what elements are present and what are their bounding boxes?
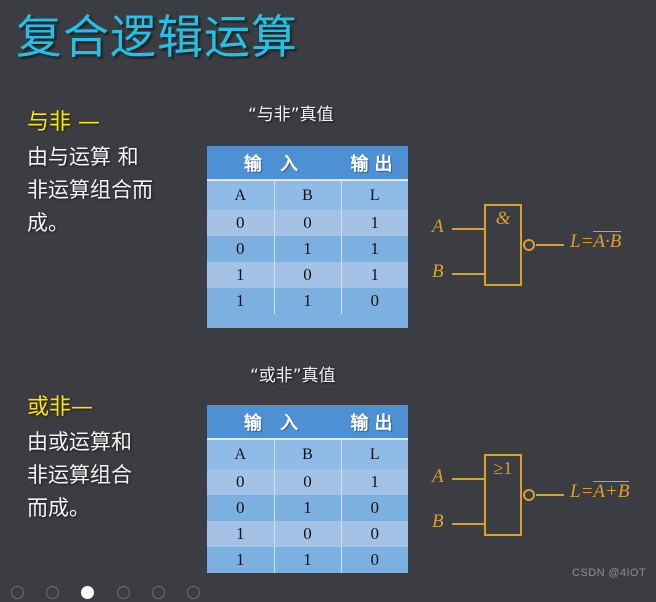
cell-a: 0 [207,495,274,521]
group-header-input: 输 入 [207,405,341,439]
inversion-bubble-icon [523,239,535,251]
cell-a: 1 [207,521,274,547]
table-row: 0 1 0 [207,495,408,521]
pagination-dot[interactable] [187,586,200,599]
group-header-output: 输出 [341,405,408,439]
inversion-bubble-icon [523,489,535,501]
gate-input-label-b: B [432,511,444,533]
desc-nand-line-1: 由与运算 和 [27,141,212,174]
table-row: 1 1 0 [207,547,408,573]
table-filler-cell [207,314,408,328]
gate-input-label-a: A [432,466,444,488]
column-label-a: A [207,439,274,469]
gate-operator-symbol: & [484,208,522,230]
table-row: 0 1 1 [207,236,408,262]
cell-a: 1 [207,547,274,573]
table-row: 0 0 1 [207,210,408,236]
cell-l: 1 [341,469,408,495]
desc-nand-line-3: 成。 [27,207,212,240]
cell-l: 1 [341,262,408,288]
cell-b: 1 [274,236,341,262]
keyword-nand: 与非 — [27,108,212,138]
desc-nor-line-1: 由或运算和 [27,426,212,459]
gate-diagram-nand: A B & L=A·B [424,196,656,296]
table-row: 1 0 1 [207,262,408,288]
cell-l: 1 [341,210,408,236]
cell-b: 1 [274,288,341,314]
table-subheader-row: A B L [207,180,408,210]
gate-formula-nand: L=A·B [570,231,621,253]
formula-prefix: L= [570,231,593,252]
desc-nor-line-3: 而成。 [27,492,212,525]
cell-l: 0 [341,521,408,547]
truth-table-nor: 输 入 输出 A B L 0 0 1 0 1 0 1 0 0 [207,405,408,573]
cell-b: 1 [274,547,341,573]
table-filler-row [207,314,408,328]
table-header-row: 输 入 输出 [207,146,408,180]
gate-input-wire-b [452,273,486,275]
pagination-dots[interactable] [0,582,211,602]
cell-a: 0 [207,469,274,495]
pagination-dot[interactable] [11,586,24,599]
cell-l: 0 [341,547,408,573]
gate-input-wire-b [452,523,486,525]
gate-output-wire [536,494,564,496]
pagination-dot-active[interactable] [81,586,94,599]
keyword-nor: 或非— [27,393,212,423]
cell-a: 0 [207,236,274,262]
watermark: CSDN @4IOT [572,567,646,579]
page-title: 复合逻辑运算 [16,6,298,68]
cell-b: 0 [274,262,341,288]
pagination-dot[interactable] [152,586,165,599]
gate-formula-nor: L=A+B [570,481,629,503]
formula-body-overlined: A+B [593,481,629,503]
gate-output-wire [536,244,564,246]
gate-diagram-nor: A B ≥1 L=A+B [424,446,656,546]
gate-input-label-a: A [432,216,444,238]
truth-table-nand: 输 入 输出 A B L 0 0 1 0 1 1 1 0 1 [207,146,408,328]
text-block-nor: 或非— 由或运算和 非运算组合 而成。 [27,393,212,525]
cell-b: 0 [274,521,341,547]
column-label-a: A [207,180,274,210]
table-header-row: 输 入 输出 [207,405,408,439]
gate-input-wire-a [452,478,486,480]
cell-a: 1 [207,288,274,314]
caption-nor-table: “或非”真值 [250,365,336,387]
text-block-nand: 与非 — 由与运算 和 非运算组合而 成。 [27,108,212,240]
cell-l: 0 [341,495,408,521]
cell-b: 1 [274,495,341,521]
table-row: 1 0 0 [207,521,408,547]
column-label-l: L [341,180,408,210]
cell-a: 0 [207,210,274,236]
slide-canvas: 复合逻辑运算 与非 — 由与运算 和 非运算组合而 成。 “与非”真值 输 入 … [0,0,656,593]
desc-nand-line-2: 非运算组合而 [27,174,212,207]
table-row: 1 1 0 [207,288,408,314]
pagination-dot[interactable] [46,586,59,599]
group-header-output: 输出 [341,146,408,180]
cell-l: 0 [341,288,408,314]
column-label-b: B [274,439,341,469]
formula-body-overlined: A·B [593,231,621,253]
gate-input-label-b: B [432,261,444,283]
cell-a: 1 [207,262,274,288]
caption-nand-table: “与非”真值 [248,104,334,126]
cell-b: 0 [274,469,341,495]
cell-b: 0 [274,210,341,236]
column-label-l: L [341,439,408,469]
gate-input-wire-a [452,228,486,230]
column-label-b: B [274,180,341,210]
pagination-dot[interactable] [117,586,130,599]
table-subheader-row: A B L [207,439,408,469]
formula-prefix: L= [570,481,593,502]
table-row: 0 0 1 [207,469,408,495]
desc-nor-line-2: 非运算组合 [27,459,212,492]
gate-operator-symbol: ≥1 [484,458,522,479]
group-header-input: 输 入 [207,146,341,180]
cell-l: 1 [341,236,408,262]
